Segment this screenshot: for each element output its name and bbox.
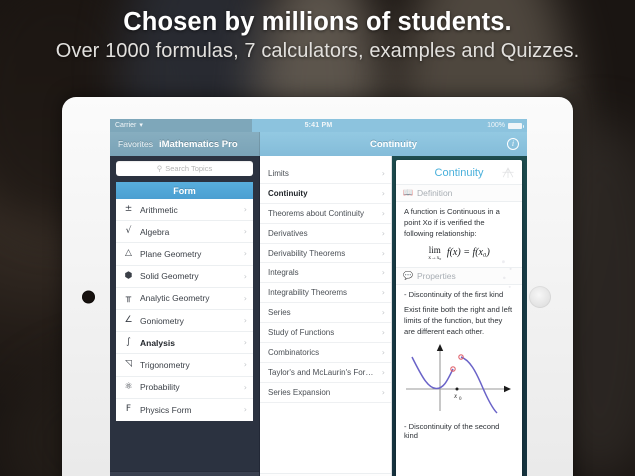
sidebar-topic-list: ±Arithmetic›√Algebra›△Plane Geometry›⬢So… (116, 199, 253, 421)
axes-icon: ╥ (121, 294, 136, 303)
sidebar-item-label: Analytic Geometry (136, 293, 244, 303)
chevron-right-icon: › (382, 268, 385, 277)
chevron-right-icon: › (382, 308, 385, 317)
navigation-bar-detail: Continuity i (260, 132, 527, 156)
chevron-right-icon: › (244, 383, 247, 392)
chevron-right-icon: › (382, 388, 385, 397)
properties-header-label: Properties (417, 271, 456, 281)
chevron-right-icon: › (244, 272, 247, 281)
topic-column-top-spacer (260, 156, 391, 164)
sidebar-item-label: Plane Geometry (136, 249, 244, 259)
radical-icon: √ (121, 227, 136, 236)
sidebar-section-header: Form (116, 182, 253, 199)
first-kind-text: Exist finite both the right and left lim… (396, 302, 522, 339)
chevron-right-icon: › (244, 316, 247, 325)
sidebar-item-analysis[interactable]: ∫Analysis› (116, 332, 253, 354)
sidebar-item-label: Goniometry (136, 316, 244, 326)
search-zone: ⚲ Search Topics (110, 156, 259, 182)
battery-percent-label: 100% (487, 122, 505, 129)
right-triangle-icon: ◹ (121, 360, 136, 369)
list-item-label: Integrability Theorems (268, 288, 382, 297)
chevron-right-icon: › (244, 360, 247, 369)
definition-header-label: Definition (417, 188, 452, 198)
list-item[interactable]: Integrals› (260, 263, 391, 283)
sidebar-item-trigonometry[interactable]: ◹Trigonometry› (116, 354, 253, 376)
promo-stage: Chosen by millions of students. Over 100… (0, 0, 635, 476)
back-button[interactable]: Favorites (118, 139, 153, 149)
list-item[interactable]: Theorems about Continuity› (260, 204, 391, 224)
sidebar-item-label: Arithmetic (136, 205, 244, 215)
content-column: Continuity 📖 Definition A function is Co… (392, 156, 527, 476)
chevron-right-icon: › (382, 189, 385, 198)
angle-icon: ∠ (121, 316, 136, 325)
graph-curve-right (461, 357, 497, 413)
sidebar-item-label: Trigonometry (136, 360, 244, 370)
sidebar-item-plane-geometry[interactable]: △Plane Geometry› (116, 243, 253, 265)
chevron-right-icon: › (244, 338, 247, 347)
discontinuity-graph: x 0 (396, 339, 522, 420)
graph-curve-left (412, 357, 453, 389)
topic-column: Limits›Continuity›Theorems about Continu… (260, 156, 392, 476)
device-screen: Carrier ▾ 5:41 PM 100% Favorites iMathem… (110, 119, 527, 476)
chevron-right-icon: › (382, 288, 385, 297)
sidebar-item-algebra[interactable]: √Algebra› (116, 221, 253, 243)
sidebar: ⚲ Search Topics Form ±Arithmetic›√Algebr… (110, 156, 260, 476)
chevron-right-icon: › (382, 209, 385, 218)
status-right: 100% (380, 122, 522, 129)
list-item-label: Continuity (268, 189, 382, 198)
formula-deco-icon (501, 166, 515, 180)
list-item-label: Theorems about Continuity (268, 209, 382, 218)
list-item-label: Combinatorics (268, 348, 382, 357)
chevron-right-icon: › (244, 294, 247, 303)
limit-subscript: x→x₀ (428, 255, 441, 261)
definition-text: A function is Continuous in a point Xo i… (396, 202, 522, 241)
content-card: Continuity 📖 Definition A function is Co… (396, 160, 522, 476)
definition-section-header: 📖 Definition (396, 184, 522, 202)
book-icon: 📖 (403, 189, 413, 197)
sidebar-item-probability[interactable]: ⚛Probability› (116, 377, 253, 399)
search-input[interactable]: ⚲ Search Topics (116, 161, 253, 176)
wifi-icon: ▾ (139, 122, 143, 129)
graph-svg: x 0 (400, 341, 518, 415)
list-item-label: Derivatives (268, 229, 382, 238)
physics-f-icon: F (121, 405, 136, 414)
watermark-icon (498, 256, 516, 298)
chevron-right-icon: › (244, 227, 247, 236)
sidebar-item-label: Solid Geometry (136, 271, 244, 281)
chevron-right-icon: › (382, 368, 385, 377)
chevron-right-icon: › (244, 405, 247, 414)
status-left: Carrier ▾ (115, 122, 257, 129)
list-item[interactable]: Derivatives› (260, 224, 391, 244)
sidebar-item-label: Analysis (136, 338, 244, 348)
list-item-label: Series (268, 308, 382, 317)
search-placeholder: Search Topics (165, 164, 212, 173)
graph-x0-point (456, 388, 459, 391)
sidebar-item-label: Probability (136, 382, 244, 392)
promo-text-block: Chosen by millions of students. Over 100… (0, 8, 635, 63)
sidebar-item-analytic-geometry[interactable]: ╥Analytic Geometry› (116, 288, 253, 310)
list-item-label: Limits (268, 169, 382, 178)
list-item[interactable]: Derivability Theorems› (260, 244, 391, 264)
app-title: iMathematics Pro (159, 139, 238, 150)
list-item-label: Series Expansion (268, 388, 382, 397)
chevron-right-icon: › (382, 249, 385, 258)
topic-column-list: Limits›Continuity›Theorems about Continu… (260, 164, 391, 473)
navigation-bar-master: Favorites iMathematics Pro (110, 132, 260, 156)
chevron-right-icon: › (382, 169, 385, 178)
detail-title: Continuity (370, 139, 417, 150)
battery-icon (508, 123, 522, 129)
navigation-bar: Favorites iMathematics Pro Continuity i (110, 132, 527, 156)
graph-x0-label: x (453, 392, 458, 400)
hexagon-solid-icon: ⬢ (121, 272, 136, 281)
sidebar-item-arithmetic[interactable]: ±Arithmetic› (116, 199, 253, 221)
limit-lim: lim (429, 245, 441, 255)
list-item[interactable]: Series Expansion› (260, 383, 391, 403)
sidebar-item-label: Algebra (136, 227, 244, 237)
carrier-label: Carrier (115, 122, 136, 129)
promo-subheadline: Over 1000 formulas, 7 calculators, examp… (0, 40, 635, 63)
sidebar-item-solid-geometry[interactable]: ⬢Solid Geometry› (116, 266, 253, 288)
chevron-right-icon: › (382, 229, 385, 238)
status-clock: 5:41 PM (257, 122, 379, 129)
graph-x0-sub: 0 (459, 397, 462, 402)
graph-x-arrow (504, 386, 511, 392)
chevron-right-icon: › (244, 205, 247, 214)
ipad-device-frame: Carrier ▾ 5:41 PM 100% Favorites iMathem… (62, 97, 573, 476)
limit-operator: lim x→x₀ (428, 245, 441, 261)
info-icon[interactable]: i (507, 138, 519, 150)
list-item[interactable]: Integrability Theorems› (260, 283, 391, 303)
list-item[interactable]: Study of Functions› (260, 323, 391, 343)
list-item[interactable]: Taylor's and McLaurin's For…› (260, 363, 391, 383)
list-item[interactable]: Continuity› (260, 184, 391, 204)
list-item-label: Derivability Theorems (268, 249, 382, 258)
graph-y-arrow (437, 344, 443, 351)
sidebar-item-goniometry[interactable]: ∠Goniometry› (116, 310, 253, 332)
chevron-right-icon: › (382, 348, 385, 357)
list-item-label: Study of Functions (268, 328, 382, 337)
list-item-label: Taylor's and McLaurin's For… (268, 368, 382, 377)
app-body: ⚲ Search Topics Form ±Arithmetic›√Algebr… (110, 156, 527, 476)
triangle-icon: △ (121, 249, 136, 258)
search-icon: ⚲ (157, 164, 163, 173)
atom-icon: ⚛ (121, 383, 136, 392)
sidebar-item-label: Physics Form (136, 405, 244, 415)
plus-minus-icon: ± (121, 205, 136, 214)
sidebar-spacer (110, 421, 259, 471)
promo-headline: Chosen by millions of students. (0, 8, 635, 37)
comment-icon: 💬 (403, 272, 413, 280)
second-kind-title: - Discontinuity of the second kind (396, 420, 522, 444)
formula-body: f(x) = f(x₀) (444, 247, 490, 258)
status-bar: Carrier ▾ 5:41 PM 100% (110, 119, 527, 132)
chevron-right-icon: › (382, 328, 385, 337)
chevron-right-icon: › (244, 249, 247, 258)
list-item[interactable]: Combinatorics› (260, 343, 391, 363)
integral-icon: ∫ (121, 338, 136, 347)
list-item-label: Integrals (268, 268, 382, 277)
front-camera-icon (529, 286, 551, 308)
sidebar-item-physics-form[interactable]: FPhysics Form› (116, 399, 253, 421)
home-button[interactable] (82, 291, 95, 304)
bottom-tab-bar: √Form▮Utilities (110, 471, 259, 476)
list-item[interactable]: Limits› (260, 164, 391, 184)
list-item[interactable]: Series› (260, 303, 391, 323)
